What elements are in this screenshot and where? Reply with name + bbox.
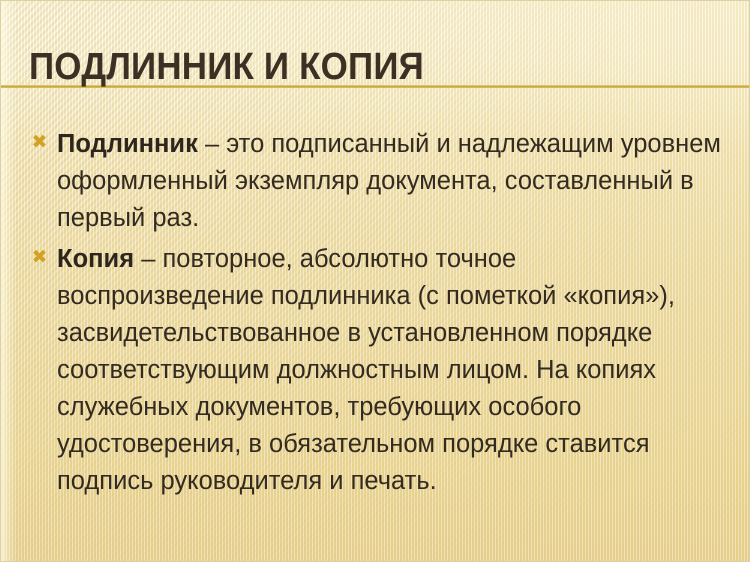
- bullet-asterisk-icon: ✖: [31, 249, 48, 266]
- bullet-asterisk-icon: ✖: [31, 134, 48, 151]
- list-item-term: Подлинник: [57, 130, 198, 158]
- list-item-term: Копия: [57, 245, 134, 273]
- list-item-definition: – повторное, абсолютно точное воспроизве…: [57, 245, 675, 495]
- presentation-slide: ПОДЛИННИК И КОПИЯ ✖ Подлинник – это подп…: [0, 0, 750, 562]
- list-item: ✖ Подлинник – это подписанный и надлежащ…: [0, 126, 750, 237]
- page-title: ПОДЛИННИК И КОПИЯ: [29, 46, 424, 88]
- slide-body: ✖ Подлинник – это подписанный и надлежащ…: [0, 126, 750, 500]
- list-item: ✖ Копия – повторное, абсолютно точное во…: [0, 241, 750, 500]
